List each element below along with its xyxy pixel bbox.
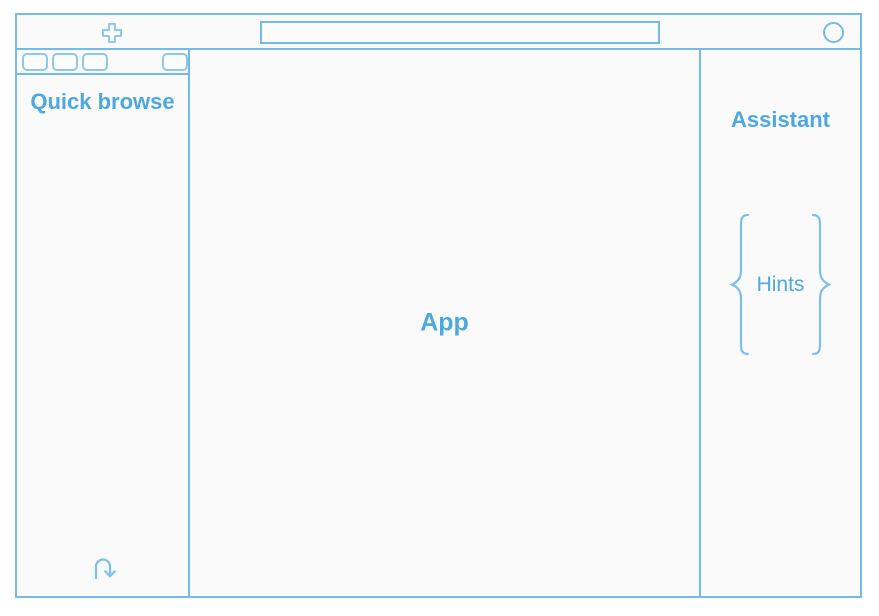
assistant-title: Assistant	[701, 107, 860, 133]
quick-browse-sidebar: Quick browse	[17, 50, 190, 596]
app-label: App	[190, 309, 699, 338]
u-turn-arrow-icon[interactable]	[91, 554, 119, 582]
tab-chip-4[interactable]	[162, 53, 188, 71]
assistant-panel: Assistant Hints	[701, 50, 860, 596]
curly-brace-left-icon	[729, 212, 751, 357]
tab-chip-3[interactable]	[82, 53, 108, 71]
browser-wireframe-frame: Quick browse App Assistant Hint	[15, 13, 862, 598]
hints-label: Hints	[751, 273, 811, 297]
tab-chip-2[interactable]	[52, 53, 78, 71]
plus-icon[interactable]	[100, 22, 124, 44]
hints-group: Hints	[707, 212, 854, 357]
address-bar-input[interactable]	[260, 21, 660, 44]
sidebar-title: Quick browse	[17, 88, 188, 116]
tab-chip-1[interactable]	[22, 53, 48, 71]
curly-brace-right-icon	[810, 212, 832, 357]
account-circle-icon[interactable]	[823, 22, 844, 43]
app-content-area[interactable]: App	[190, 50, 701, 596]
browser-chrome-bar	[17, 15, 860, 50]
workspace-row: Quick browse App Assistant Hint	[17, 50, 860, 596]
sidebar-tab-strip	[17, 50, 188, 75]
